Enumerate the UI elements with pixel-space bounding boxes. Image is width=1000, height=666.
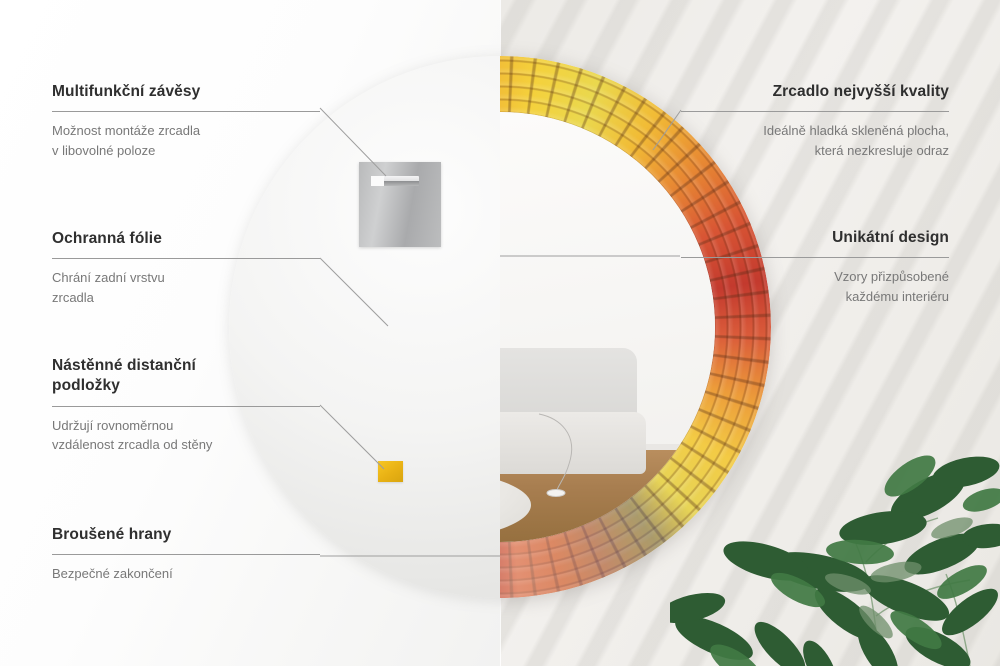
- callout-rule: [681, 257, 949, 258]
- callout-nastenne-distancni-podlozky: Nástěnné distanční podložky Udržují rovn…: [52, 356, 320, 454]
- callout-unikatni-design: Unikátní design Vzory přizpůsobené každé…: [681, 228, 949, 306]
- callout-multifunkcni-zavesy: Multifunkční závěsy Možnost montáže zrca…: [52, 82, 320, 160]
- callout-title: Ochranná fólie: [52, 229, 320, 249]
- callout-ochranna-folie: Ochranná fólie Chrání zadní vrstvu zrcad…: [52, 229, 320, 307]
- callout-body: Vzory přizpůsobené každému interiéru: [681, 267, 949, 305]
- callout-title: Multifunkční závěsy: [52, 82, 320, 102]
- callout-title: Zrcadlo nejvyšší kvality: [681, 82, 949, 102]
- hanger-keyhole-slot: [371, 176, 419, 186]
- callout-rule: [52, 258, 320, 259]
- callout-rule: [52, 111, 320, 112]
- foreground-plant: [670, 376, 1000, 666]
- wall-spacer-pad: [378, 461, 403, 482]
- callout-title: Broušené hrany: [52, 525, 320, 545]
- callout-rule: [52, 406, 320, 407]
- hanger-plate: [359, 162, 441, 247]
- callout-body: Bezpečné zakončení: [52, 564, 320, 583]
- infographic-stage: Multifunkční závěsy Možnost montáže zrca…: [0, 0, 1000, 666]
- callout-body: Udržují rovnoměrnou vzdálenost zrcadla o…: [52, 416, 320, 454]
- callout-body: Chrání zadní vrstvu zrcadla: [52, 268, 320, 306]
- callout-brousene-hrany: Broušené hrany Bezpečné zakončení: [52, 525, 320, 584]
- callout-rule: [52, 554, 320, 555]
- callout-body: Možnost montáže zrcadla v libovolné polo…: [52, 121, 320, 159]
- callout-title: Unikátní design: [681, 228, 949, 248]
- callout-body: Ideálně hladká skleněná plocha, která ne…: [681, 121, 949, 159]
- callout-title: Nástěnné distanční podložky: [52, 356, 320, 397]
- callout-rule: [681, 111, 949, 112]
- reflected-lamp-wire: [535, 412, 595, 502]
- callout-zrcadlo-nejvyssi-kvality: Zrcadlo nejvyšší kvality Ideálně hladká …: [681, 82, 949, 160]
